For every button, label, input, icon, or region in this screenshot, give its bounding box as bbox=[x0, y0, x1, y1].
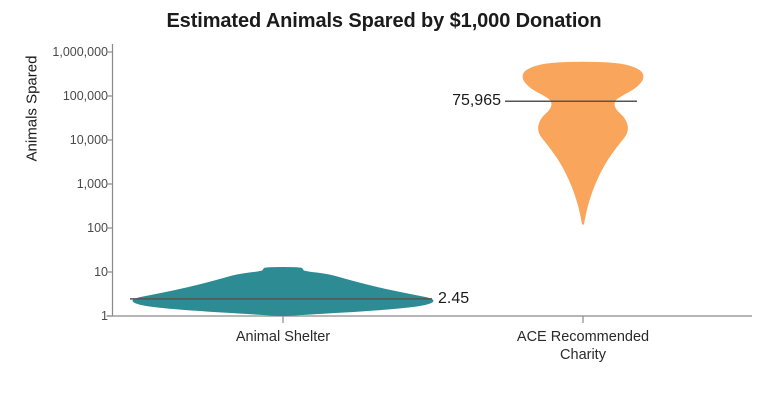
violin-body bbox=[133, 267, 434, 316]
x-axis-category-label: Animal Shelter bbox=[153, 328, 413, 346]
violin-chart: Estimated Animals Spared by $1,000 Donat… bbox=[0, 0, 768, 403]
median-value-label: 75,965 bbox=[452, 92, 501, 110]
median-value-label: 2.45 bbox=[438, 290, 469, 308]
x-axis-category-label: ACE Recommended Charity bbox=[453, 328, 713, 364]
violin-body bbox=[523, 62, 644, 225]
